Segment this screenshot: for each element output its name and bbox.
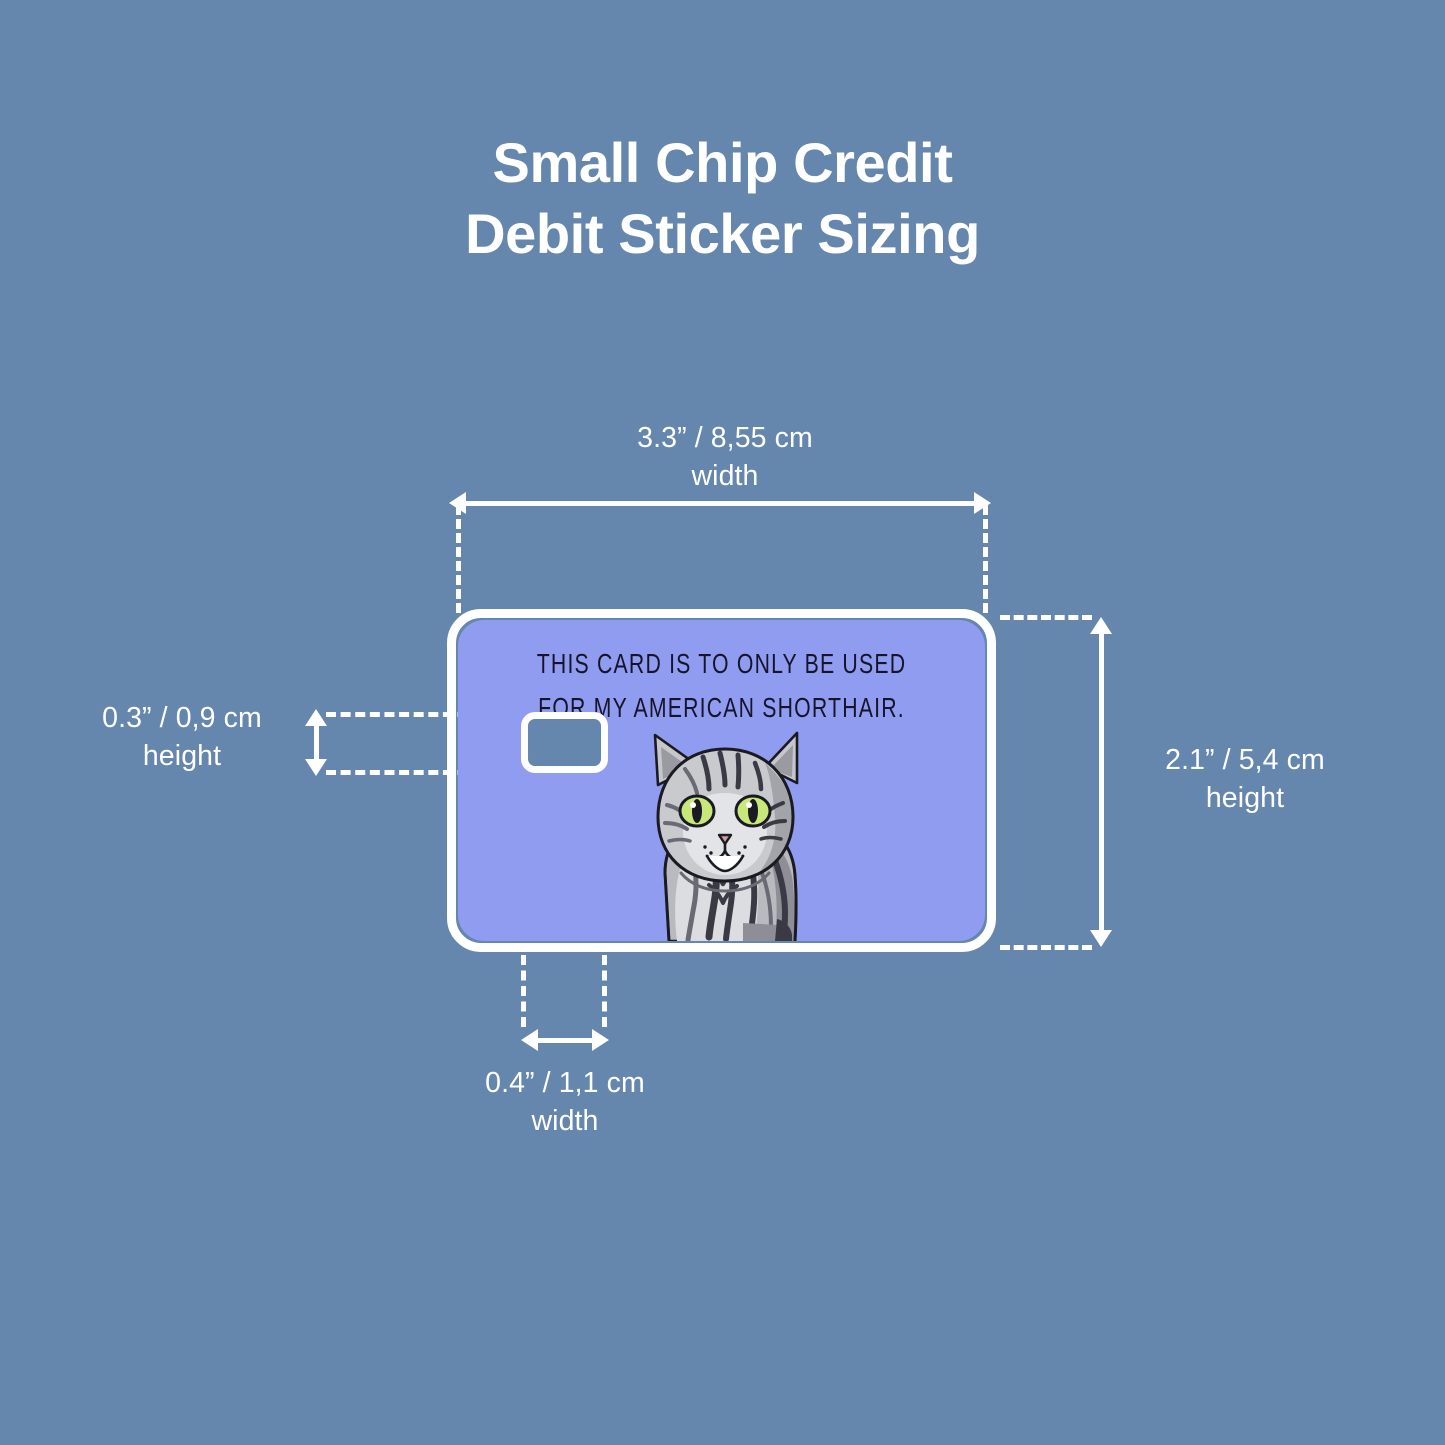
sticker-sizing-diagram: Small Chip Credit Debit Sticker Sizing 3… xyxy=(0,0,1445,1445)
measurement-label-card-width: 3.3” / 8,55 cm width xyxy=(520,420,930,495)
card-height-arrow-line xyxy=(1099,634,1104,930)
chip-width-arrow-head-left xyxy=(521,1029,538,1051)
measurement-label-chip-height: 0.3” / 0,9 cm height xyxy=(60,700,304,775)
chip-width-arrow-head-right xyxy=(592,1029,609,1051)
page-title: Small Chip Credit Debit Sticker Sizing xyxy=(0,128,1445,269)
chip-width-arrow-line xyxy=(538,1038,592,1043)
measurement-label-chip-width: 0.4” / 1,1 cm width xyxy=(420,1065,710,1140)
measurement-label-card-height: 2.1” / 5,4 cm height xyxy=(1120,742,1370,817)
card-height-arrow-head-top xyxy=(1090,617,1112,634)
card-height-extension-top xyxy=(1000,615,1092,620)
chip-width-extension-right xyxy=(602,955,607,1027)
card-height-arrow-head-bottom xyxy=(1090,930,1112,947)
chip-height-arrow-line xyxy=(314,726,319,759)
american-shorthair-cat-illustration xyxy=(625,723,830,941)
card-height-extension-bottom xyxy=(1000,945,1092,950)
card-width-extension-right xyxy=(983,505,988,613)
card-width-extension-left xyxy=(456,505,461,613)
chip-height-arrow-head-top xyxy=(305,709,327,726)
card-width-arrow-line xyxy=(466,501,974,506)
chip-height-arrow-head-bottom xyxy=(305,759,327,776)
chip-width-extension-left xyxy=(521,955,526,1027)
chip-cutout xyxy=(521,712,608,773)
